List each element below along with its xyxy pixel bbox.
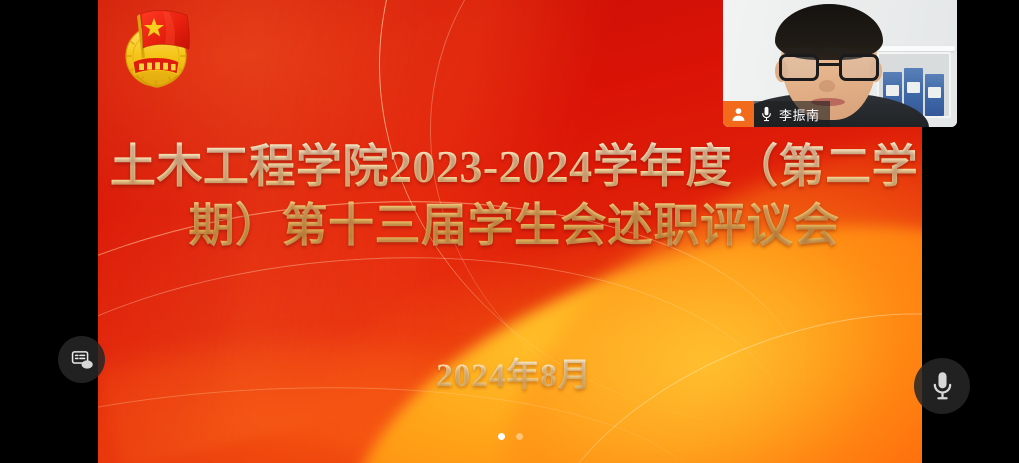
participant-video-tile[interactable]: 李振南 [723,0,957,127]
page-dot-1[interactable] [498,433,505,440]
chat-icon [70,348,94,372]
meeting-screen: 土木工程学院2023-2024学年度（第二学期）第十三届学生会述职评议会 202… [0,0,1019,463]
participant-name-chip: 李振南 [754,101,830,127]
glasses-lens-left [779,54,819,81]
participant-name-bar: 李振南 [723,101,830,127]
glasses-lens-right [839,54,879,81]
communist-youth-league-emblem-icon [111,6,207,92]
slide-date: 2024年8月 [108,348,920,396]
background-binder [925,74,944,116]
slide-title: 土木工程学院2023-2024学年度（第二学期）第十三届学生会述职评议会 [108,138,920,256]
microphone-icon [930,371,955,402]
microphone-icon [760,106,773,123]
microphone-button[interactable] [914,358,970,414]
glasses-bridge [819,63,839,66]
page-dot-2[interactable] [516,433,523,440]
person-glasses [777,54,881,82]
page-indicator[interactable] [98,433,922,440]
person-nose [819,80,835,92]
host-person-icon [723,101,754,127]
participant-name: 李振南 [779,105,820,124]
chat-button[interactable] [58,336,105,383]
